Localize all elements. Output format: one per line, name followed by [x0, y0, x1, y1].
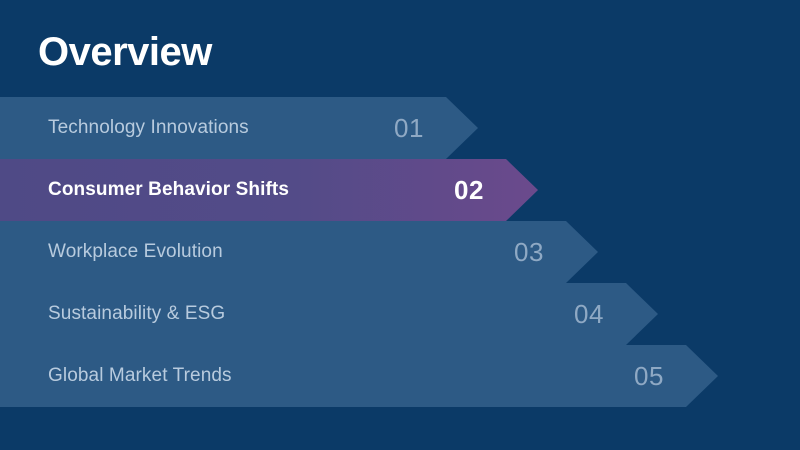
agenda-item-number: 01: [394, 113, 424, 144]
agenda-item-03[interactable]: Workplace Evolution03: [0, 221, 598, 283]
agenda-item-label: Global Market Trends: [48, 365, 232, 387]
agenda-item-05[interactable]: Global Market Trends05: [0, 345, 718, 407]
agenda-item-label: Technology Innovations: [48, 117, 249, 139]
agenda-item-01[interactable]: Technology Innovations01: [0, 97, 478, 159]
agenda-item-label: Workplace Evolution: [48, 241, 223, 263]
agenda-item-04[interactable]: Sustainability & ESG04: [0, 283, 658, 345]
agenda-item-number: 05: [634, 361, 664, 392]
presentation-slide: Overview Technology Innovations01Consume…: [0, 0, 800, 450]
agenda-item-number: 02: [454, 175, 484, 206]
page-title: Overview: [38, 30, 212, 74]
agenda-item-number: 03: [514, 237, 544, 268]
agenda-item-label: Consumer Behavior Shifts: [48, 179, 289, 201]
agenda-item-02[interactable]: Consumer Behavior Shifts02: [0, 159, 538, 221]
agenda-list: Technology Innovations01Consumer Behavio…: [0, 97, 800, 407]
agenda-item-label: Sustainability & ESG: [48, 303, 225, 325]
agenda-item-number: 04: [574, 299, 604, 330]
